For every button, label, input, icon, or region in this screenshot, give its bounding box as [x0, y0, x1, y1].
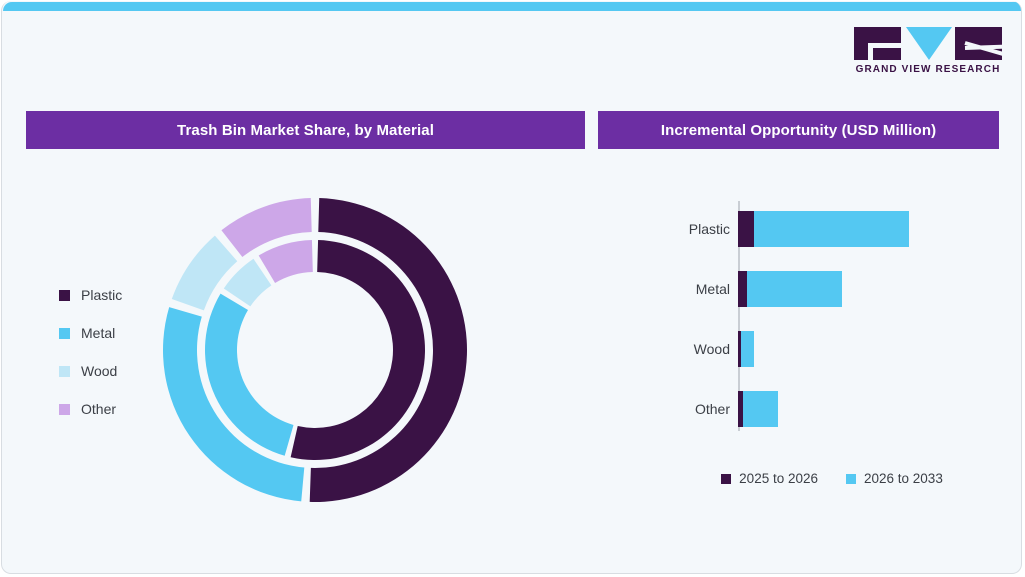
bar-segment-metal-series-2[interactable] — [747, 271, 842, 307]
legend-label: Metal — [81, 325, 115, 341]
bar-category-label: Metal — [662, 281, 730, 297]
bar-segment-plastic-series-1[interactable] — [738, 211, 754, 247]
bar-segment-wood-series-2[interactable] — [741, 331, 754, 367]
logo-g-notch-vertical — [868, 43, 873, 60]
bar-legend-label: 2026 to 2033 — [864, 471, 943, 486]
donut-inner-ring — [205, 240, 425, 460]
bar-legend-swatch-icon — [721, 474, 731, 484]
panel-title-incremental-opportunity: Incremental Opportunity (USD Million) — [598, 111, 999, 149]
bar-row-other: Other — [662, 391, 1002, 427]
logo-v-triangle-icon — [906, 27, 952, 60]
brand-logo: GRAND VIEW RESEARCH — [854, 27, 1002, 79]
bar-row-plastic: Plastic — [662, 211, 1002, 247]
legend-swatch-icon — [59, 404, 70, 415]
brand-name: GRAND VIEW RESEARCH — [854, 64, 1002, 75]
bar-category-label: Plastic — [662, 221, 730, 237]
panel-title-market-share: Trash Bin Market Share, by Material — [26, 111, 585, 149]
bar-legend-swatch-icon — [846, 474, 856, 484]
bar-legend-label: 2025 to 2026 — [739, 471, 818, 486]
logo-marks — [854, 27, 1002, 60]
legend-label: Other — [81, 401, 116, 417]
legend-item-plastic[interactable]: Plastic — [59, 276, 169, 314]
legend-item-other[interactable]: Other — [59, 390, 169, 428]
bar-track — [738, 211, 909, 247]
bar-track — [738, 391, 778, 427]
donut-chart-svg — [163, 198, 467, 502]
bar-legend-item-2[interactable]: 2026 to 2033 — [846, 471, 943, 486]
bar-track — [738, 331, 754, 367]
legend-item-metal[interactable]: Metal — [59, 314, 169, 352]
bar-category-label: Other — [662, 401, 730, 417]
bar-segment-plastic-series-2[interactable] — [754, 211, 909, 247]
donut-slice-other[interactable] — [259, 240, 313, 283]
legend-swatch-icon — [59, 366, 70, 377]
donut-chart — [163, 198, 467, 502]
top-accent-bar — [3, 2, 1022, 11]
legend-label: Wood — [81, 363, 117, 379]
logo-r-slash-second — [965, 45, 1005, 50]
bar-track — [738, 271, 842, 307]
legend-swatch-icon — [59, 328, 70, 339]
bar-row-wood: Wood — [662, 331, 1002, 367]
bar-chart: PlasticMetalWoodOther — [662, 193, 1002, 443]
logo-g-block-icon — [854, 27, 901, 60]
bar-row-metal: Metal — [662, 271, 1002, 307]
legend-item-wood[interactable]: Wood — [59, 352, 169, 390]
donut-legend: PlasticMetalWoodOther — [59, 276, 169, 428]
bar-category-label: Wood — [662, 341, 730, 357]
bar-legend-item-1[interactable]: 2025 to 2026 — [721, 471, 818, 486]
bar-segment-metal-series-1[interactable] — [738, 271, 747, 307]
bar-chart-legend: 2025 to 20262026 to 2033 — [662, 471, 1002, 486]
bar-segment-other-series-2[interactable] — [743, 391, 778, 427]
legend-label: Plastic — [81, 287, 122, 303]
legend-swatch-icon — [59, 290, 70, 301]
logo-r-block-icon — [955, 27, 1002, 60]
report-card: GRAND VIEW RESEARCH Trash Bin Market Sha… — [1, 1, 1022, 574]
